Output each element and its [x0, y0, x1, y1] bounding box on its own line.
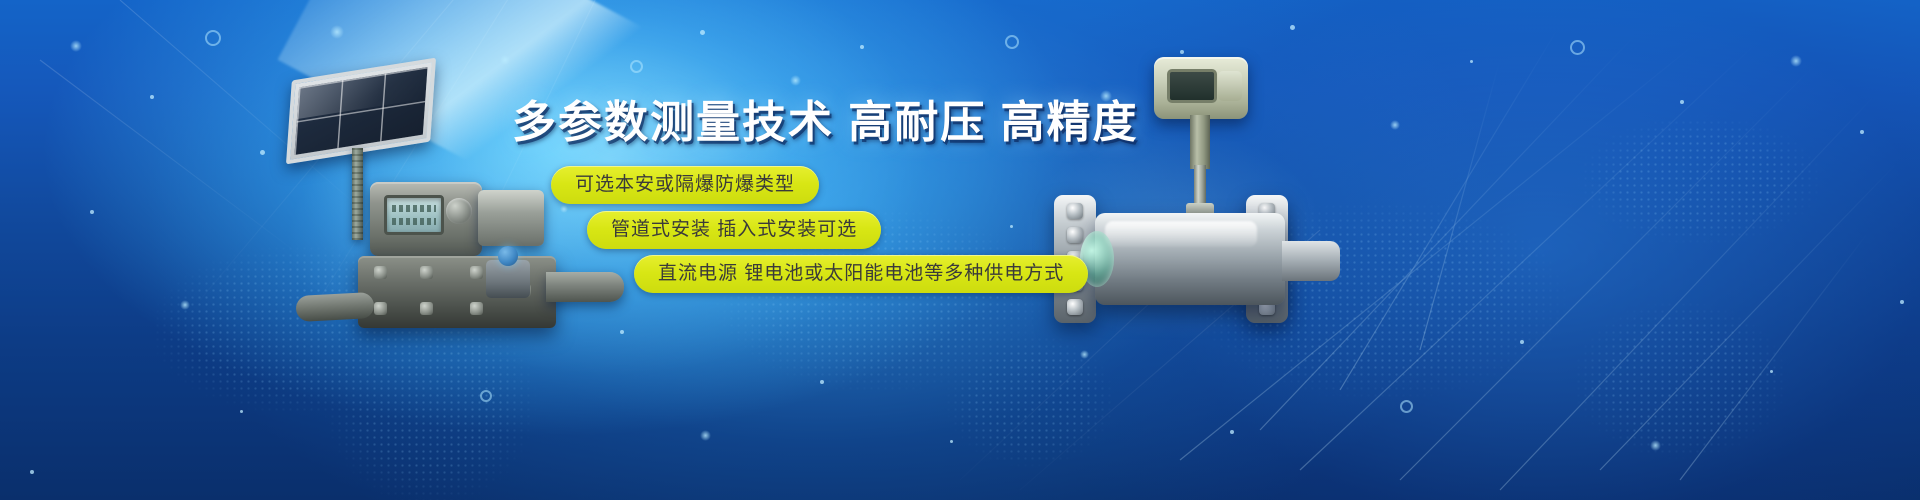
converter-cap: [1218, 71, 1242, 101]
valve-indicator: [498, 246, 518, 266]
flowmeter-body: [1095, 213, 1285, 305]
lcd-line-1: [392, 205, 436, 212]
transmitter-housing: [370, 182, 482, 256]
outlet-tube: [1282, 241, 1340, 281]
lcd-display: [384, 195, 444, 235]
transmitter-end-cap: [478, 190, 544, 246]
transmitter-knob: [446, 198, 472, 224]
feature-pill-label: 直流电源 锂电池或太阳能电池等多种供电方式: [634, 255, 1088, 293]
body-highlight: [1105, 221, 1257, 247]
lcd-line-2: [392, 218, 436, 225]
feature-pill-explosion-proof: 可选本安或隔爆防爆类型: [551, 166, 819, 204]
hero-banner: 多参数测量技术 高耐压 高精度 可选本安或隔爆防爆类型 管道式安装 插入式安装可…: [0, 0, 1920, 500]
feature-pill-power-supply: 直流电源 锂电池或太阳能电池等多种供电方式: [634, 255, 1088, 293]
pole-ribs: [352, 148, 363, 240]
side-pipe: [295, 292, 374, 322]
feature-pill-label: 可选本安或隔爆防爆类型: [551, 166, 819, 204]
flowmeter-converter-head: [1154, 57, 1248, 119]
mounting-pole: [352, 148, 363, 240]
banner-headline: 多参数测量技术 高耐压 高精度: [512, 96, 1032, 150]
feature-pill-installation-type: 管道式安装 插入式安装可选: [587, 211, 881, 249]
converter-window: [1167, 69, 1217, 103]
outlet-pipe: [546, 272, 624, 302]
converter-neck: [1190, 115, 1210, 169]
feature-pill-label: 管道式安装 插入式安装可选: [587, 211, 881, 249]
